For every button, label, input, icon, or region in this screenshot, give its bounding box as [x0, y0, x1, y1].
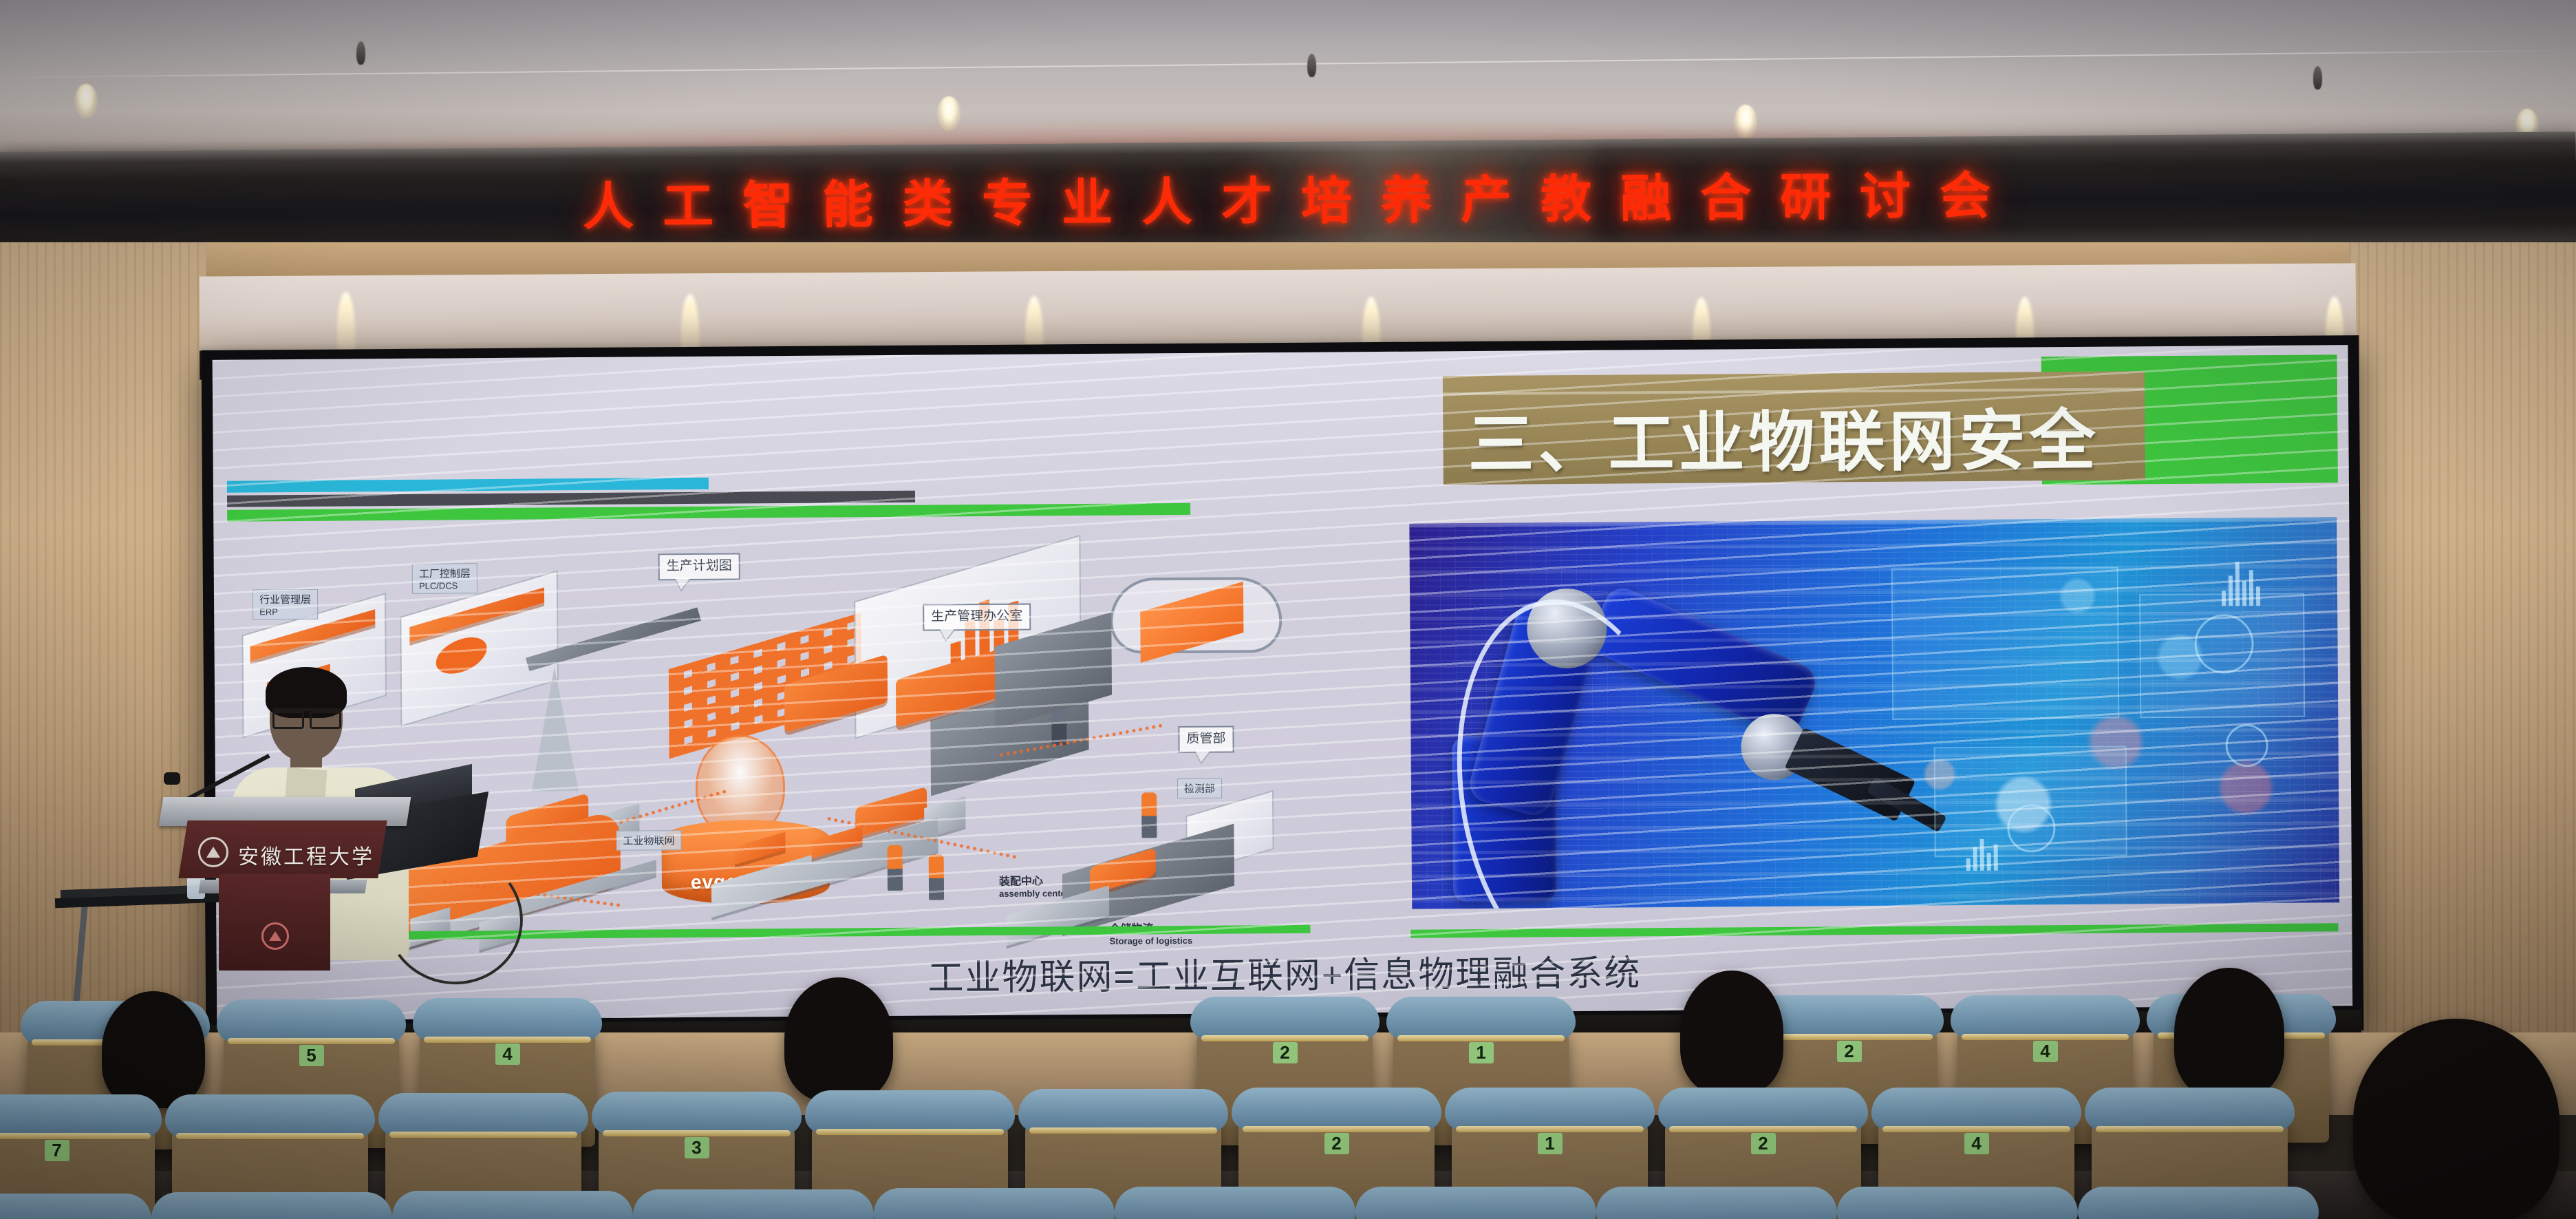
slide-title-block: 三、工业物联网安全: [1443, 354, 2338, 489]
diagram-tag-erp: 行业管理层 ERP: [253, 589, 318, 620]
seat-cushion: [1837, 1187, 2078, 1219]
tag-cn: 工业物联网: [623, 835, 674, 847]
microphone-head: [164, 772, 180, 785]
seat-cushion: [805, 1090, 1015, 1133]
seat-number-tag: 4: [495, 1043, 520, 1065]
led-banner-char: 业: [1062, 161, 1116, 235]
audience-head: [1680, 971, 1783, 1094]
wall-panel-right: [2349, 242, 2576, 1054]
seat-cushion: [1232, 1088, 1441, 1130]
seat-trim: [1962, 1034, 2129, 1040]
seat-number-tag: 1: [1538, 1133, 1563, 1154]
seat-cushion: [1596, 1187, 1837, 1219]
seat-cushion: [151, 1192, 392, 1219]
ceiling-downlight: [937, 96, 960, 131]
seat-trim: [603, 1130, 791, 1136]
seat-cushion: [0, 1194, 151, 1219]
seat-cushion: [1115, 1187, 1355, 1219]
tag-en: ERP: [259, 606, 311, 617]
ceiling-downlight: [1734, 105, 1757, 139]
seat-trim: [1456, 1126, 1644, 1132]
callout-label: 生产管理办公室: [931, 609, 1022, 624]
seat-cushion: [874, 1188, 1115, 1219]
seat-trim: [816, 1129, 1004, 1135]
seat-cushion: [1355, 1187, 1596, 1219]
seat-trim: [424, 1037, 591, 1043]
tag-cn: 行业管理层: [259, 594, 311, 606]
university-logo-icon-column: [261, 922, 289, 950]
led-banner-char: 培: [1301, 160, 1355, 234]
seat-number-tag: 2: [1324, 1133, 1349, 1154]
podium-institution-name: 安徽工程大学: [238, 840, 374, 870]
seat-trim: [1397, 1035, 1565, 1041]
robot-arm-photo: [1409, 517, 2339, 909]
seat-cushion: [1951, 995, 2140, 1038]
seat-number-tag: 3: [685, 1137, 709, 1158]
audience-head: [2174, 968, 2284, 1099]
led-banner-char: 会: [1940, 154, 1994, 229]
seat-trim: [0, 1133, 151, 1139]
tag-cn: 装配中心: [999, 871, 1069, 889]
seat-cushion: [378, 1093, 588, 1136]
led-banner-char: 工: [663, 165, 717, 239]
ceiling-hook: [356, 41, 365, 65]
diagram-tag-iiot: 工业物联网: [616, 830, 681, 851]
seat-number-tag: 1: [1469, 1042, 1494, 1063]
podium: 安徽工程大学: [180, 797, 387, 969]
led-banner-char: 养: [1381, 159, 1435, 233]
presenter-glasses: [272, 708, 341, 722]
seat-number-tag: 5: [299, 1045, 324, 1066]
seat[interactable]: [640, 1207, 867, 1219]
seat-cushion: [392, 1191, 633, 1219]
seat[interactable]: [399, 1209, 626, 1219]
led-banner-char: 智: [742, 164, 797, 238]
seat-number-tag: 4: [2033, 1041, 2058, 1062]
seat-trim: [1669, 1126, 1857, 1132]
seat-cushion: [413, 998, 602, 1041]
seat[interactable]: [1121, 1205, 1349, 1219]
ceiling-seam: [0, 50, 2576, 78]
seat-cushion: [0, 1094, 162, 1137]
callout-label: 质管部: [1186, 732, 1225, 746]
seat-trim: [1882, 1126, 2070, 1132]
led-banner-char: 专: [982, 162, 1036, 236]
audience-seating: 7 5 4 2 1 2 4: [0, 977, 2576, 1219]
seat-number-tag: 4: [1964, 1133, 1989, 1154]
seat-cushion: [2078, 1187, 2319, 1219]
seat[interactable]: [1844, 1205, 2071, 1219]
led-banner-char: 教: [1541, 158, 1595, 232]
seat-trim: [1201, 1035, 1368, 1041]
seat-trim: [2096, 1126, 2284, 1132]
seat-cushion: [592, 1092, 802, 1134]
accent-bar-cyan: [227, 478, 709, 493]
projection-screen: 三、工业物联网安全 行业管理层 ERP 工厂控制: [213, 345, 2353, 1021]
seat-trim: [176, 1133, 364, 1139]
seat-trim: [228, 1038, 395, 1044]
audience-head: [102, 991, 205, 1108]
wall-panel-left: [0, 242, 206, 1054]
led-banner-char: 融: [1620, 157, 1675, 231]
diagram-tag-assembly-center: 装配中心 assembly center: [999, 871, 1069, 899]
diagram-callout-production-plan: 生产计划图: [658, 553, 740, 580]
seat[interactable]: [0, 1211, 144, 1219]
projector-glitch-lines: [1409, 517, 2339, 909]
seat-cushion: [1445, 1088, 1655, 1130]
seat-number-tag: 2: [1273, 1042, 1298, 1063]
led-banner-char: 研: [1780, 156, 1834, 230]
iso-worker: [929, 854, 944, 900]
diagram-tag-plc: 工厂控制层 PLC/DCS: [412, 563, 477, 594]
seat-cushion: [165, 1094, 375, 1137]
led-banner-char: 合: [1700, 156, 1754, 231]
slide-title: 三、工业物联网安全: [1468, 387, 2100, 487]
university-logo-icon: [198, 837, 228, 867]
ceiling-hook: [2313, 66, 2322, 89]
seat-trim: [389, 1132, 577, 1138]
led-banner-char: 类: [902, 162, 956, 237]
seat[interactable]: [881, 1206, 1108, 1219]
conference-hall-photo: 人工智能类专业人才培养产教融合研讨会: [0, 0, 2576, 1219]
seat-cushion: [633, 1189, 874, 1219]
seat-number-tag: 7: [45, 1140, 69, 1161]
tag-en: assembly center: [999, 888, 1069, 899]
diagram-callout-quality: 质管部: [1178, 725, 1234, 752]
seat-trim: [1243, 1126, 1430, 1132]
led-banner-char: 讨: [1860, 155, 1914, 229]
seat[interactable]: [158, 1210, 385, 1219]
seat-cushion: [217, 999, 406, 1042]
tag-cn: 工厂控制层: [419, 568, 471, 580]
audience-head: [2353, 1019, 2559, 1219]
led-banner-char: 能: [822, 163, 877, 237]
projection-screen-frame: 三、工业物联网安全 行业管理层 ERP 工厂控制: [202, 335, 2364, 1046]
led-banner-char: 才: [1221, 160, 1276, 235]
iso-worker: [888, 845, 903, 891]
seat-trim: [1029, 1127, 1217, 1134]
presentation-slide: 三、工业物联网安全 行业管理层 ERP 工厂控制: [213, 345, 2353, 1021]
led-banner-char: 产: [1461, 158, 1515, 233]
seat-cushion: [2085, 1088, 2295, 1130]
accent-bar-dark: [227, 491, 915, 507]
led-banner-char: 人: [583, 165, 637, 240]
diagram-callout-production-office: 生产管理办公室: [923, 604, 1031, 631]
tag-en: PLC/DCS: [419, 580, 471, 591]
seat[interactable]: [2085, 1205, 2312, 1219]
tag-cn: 检测部: [1184, 783, 1215, 795]
ceiling-hook: [1307, 54, 1316, 77]
seat-cushion: [1386, 997, 1576, 1039]
seat[interactable]: [1603, 1205, 1830, 1219]
slide-accent-bars: [227, 474, 1190, 524]
seat[interactable]: [1362, 1205, 1589, 1219]
iso-worker: [1141, 792, 1157, 838]
seat-cushion: [1190, 997, 1380, 1039]
callout-label: 生产计划图: [667, 559, 732, 574]
led-banner-char: 人: [1141, 161, 1196, 235]
iso-crane-tower: [531, 667, 579, 791]
slide-green-rule-right: [1410, 923, 2338, 937]
seat-trim: [1765, 1034, 1933, 1040]
ceiling-downlight: [74, 84, 98, 118]
tag-en: Storage of logistics: [1109, 935, 1192, 946]
seat-cushion: [1871, 1088, 2081, 1130]
seat-number-tag: 2: [1837, 1041, 1862, 1062]
presenter-collar: [286, 767, 328, 801]
seat-number-tag: 2: [1751, 1133, 1776, 1154]
seat-cushion: [1658, 1088, 1868, 1130]
seat-cushion: [1018, 1089, 1228, 1132]
audience-head: [784, 977, 893, 1101]
diagram-tag-inspection: 检测部: [1177, 778, 1222, 798]
